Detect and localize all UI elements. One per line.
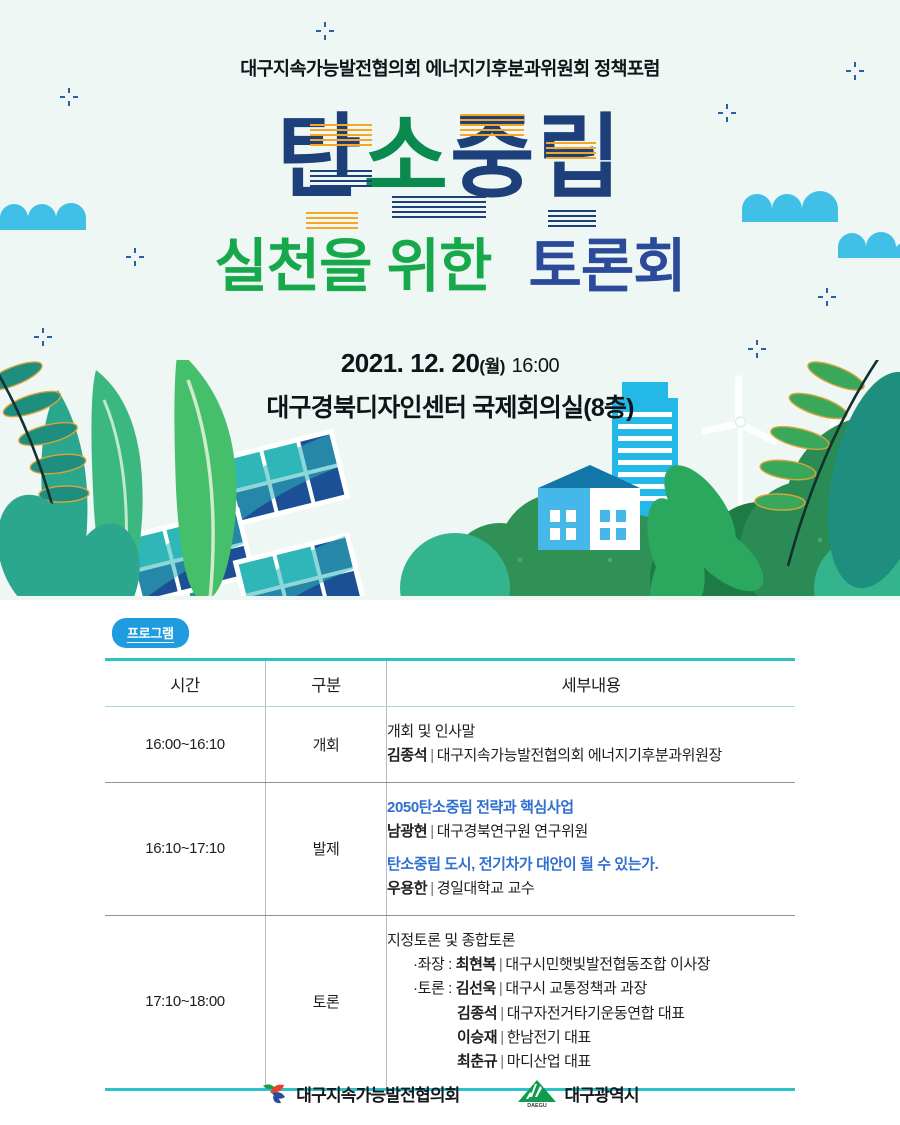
table-row: 16:00~16:10 개회 개회 및 인사말 김종석|대구지속가능발전협의회 … (105, 707, 795, 783)
logo-label: 대구지속가능발전협의회 (296, 1081, 459, 1106)
row-time: 16:00~16:10 (105, 707, 266, 783)
person-affiliation: 대구시 교통정책과 과장 (505, 980, 647, 997)
person-affiliation: 대구시민햇빛발전협동조합 이사장 (505, 956, 710, 973)
person-affiliation: 대구지속가능발전협의회 에너지기후분과위원장 (437, 747, 722, 764)
session-topic: 2050탄소중립 전략과 핵심사업 (387, 796, 795, 820)
poster-subtitle: 실천을 위한 토론회 (0, 238, 900, 296)
title-stripe-navy (310, 170, 372, 190)
title-stripe-orange (306, 212, 358, 232)
person-affiliation: 대구자전거타기운동연합 대표 (507, 1005, 685, 1022)
program-badge: 프로그램 (112, 618, 189, 648)
person-name: 김종석 (457, 1005, 497, 1022)
title-stripe-navy (548, 210, 596, 230)
logo-label: 대구광역시 (565, 1081, 639, 1106)
detail-person: 최춘규|마디산업 대표 (387, 1050, 795, 1074)
daegu-city-mountain-logo: DAEGU (516, 1078, 558, 1108)
role-label: ·토론 : (413, 980, 452, 997)
title-stripe-navy (392, 196, 486, 221)
event-date: 2021. 12. 20 (341, 348, 480, 378)
person-name: 김종석 (387, 747, 427, 764)
poster-page: 대구지속가능발전협의회 에너지기후분과위원회 정책포럼 탄소중립 (0, 0, 900, 1125)
person-name: 최춘규 (457, 1053, 497, 1070)
detail-role-line: ·토론 : 김선욱|대구시 교통정책과 과장 (387, 977, 795, 1001)
title-char-2: 소 (363, 112, 450, 204)
poster-main-title: 탄소중립 (0, 112, 900, 237)
detail-person: 김종석|대구지속가능발전협의회 에너지기후분과위원장 (387, 744, 795, 768)
program-table: 시간 구분 세부내용 16:00~16:10 개회 개회 및 인사말 김종석|대… (105, 658, 795, 1091)
program-badge-label: 프로그램 (127, 626, 174, 643)
title-stripe-orange (460, 114, 524, 139)
subtitle-navy: 토론회 (528, 234, 685, 299)
person-affiliation: 대구경북연구원 연구위원 (437, 823, 588, 840)
person-name: 이승재 (457, 1029, 497, 1046)
hero-section: 대구지속가능발전협의회 에너지기후분과위원회 정책포럼 탄소중립 (0, 0, 900, 600)
row-kind: 개회 (266, 707, 387, 783)
title-stripe-orange (546, 142, 596, 162)
row-time: 17:10~18:00 (105, 915, 266, 1089)
logo-daegu-city: DAEGU 대구광역시 (516, 1078, 639, 1108)
person-affiliation: 마디산업 대표 (507, 1053, 591, 1070)
detail-person: 김종석|대구자전거타기운동연합 대표 (387, 1002, 795, 1026)
detail-person: 우용한|경일대학교 교수 (387, 877, 795, 901)
row-detail: 2050탄소중립 전략과 핵심사업 남광현|대구경북연구원 연구위원 탄소중립 … (387, 782, 796, 915)
logo-sub-label: DAEGU (527, 1103, 547, 1108)
detail-line: 개회 및 인사말 (387, 720, 795, 744)
table-row: 16:10~17:10 발제 2050탄소중립 전략과 핵심사업 남광현|대구경… (105, 782, 795, 915)
subtitle-green: 실천을 위한 (214, 234, 491, 299)
session-topic: 탄소중립 도시, 전기차가 대안이 될 수 있는가. (387, 853, 795, 877)
event-datetime: 2021. 12. 20(월) 16:00 (0, 348, 900, 379)
row-kind: 발제 (266, 782, 387, 915)
row-time: 16:10~17:10 (105, 782, 266, 915)
column-header-time: 시간 (105, 660, 266, 707)
detail-person: 남광현|대구경북연구원 연구위원 (387, 820, 795, 844)
program-section: 프로그램 시간 구분 세부내용 16:00~16:10 개회 개회 및 인사말 (0, 600, 900, 1091)
detail-role-line: ·좌장 : 최현복|대구시민햇빛발전협동조합 이사장 (387, 953, 795, 977)
event-day: (월) (479, 357, 504, 376)
person-name: 남광현 (387, 823, 427, 840)
person-name: 우용한 (387, 880, 427, 897)
row-detail: 지정토론 및 종합토론 ·좌장 : 최현복|대구시민햇빛발전협동조합 이사장 ·… (387, 915, 796, 1089)
person-name: 김선욱 (456, 980, 496, 997)
table-header-row: 시간 구분 세부내용 (105, 660, 795, 707)
event-venue: 대구경북디자인센터 국제회의실(8층) (0, 388, 900, 424)
row-kind: 토론 (266, 915, 387, 1089)
detail-person: 이승재|한남전기 대표 (387, 1026, 795, 1050)
forum-kicker: 대구지속가능발전협의회 에너지기후분과위원회 정책포럼 (0, 55, 900, 81)
person-affiliation: 경일대학교 교수 (437, 880, 535, 897)
event-time: 16:00 (512, 355, 560, 377)
title-stripe-orange (310, 124, 372, 149)
role-label: ·좌장 : (413, 956, 452, 973)
column-header-kind: 구분 (266, 660, 387, 707)
person-name: 최현복 (456, 956, 496, 973)
column-header-detail: 세부내용 (387, 660, 796, 707)
logo-daegu-agenda21: 대구지속가능발전협의회 (261, 1080, 459, 1106)
detail-line: 지정토론 및 종합토론 (387, 929, 795, 953)
footer-logos: 대구지속가능발전협의회 DAEGU 대구광역시 (0, 1078, 900, 1108)
person-affiliation: 한남전기 대표 (507, 1029, 591, 1046)
row-detail: 개회 및 인사말 김종석|대구지속가능발전협의회 에너지기후분과위원장 (387, 707, 796, 783)
daegu-agenda21-swirl-logo (261, 1080, 289, 1106)
table-row: 17:10~18:00 토론 지정토론 및 종합토론 ·좌장 : 최현복|대구시… (105, 915, 795, 1089)
